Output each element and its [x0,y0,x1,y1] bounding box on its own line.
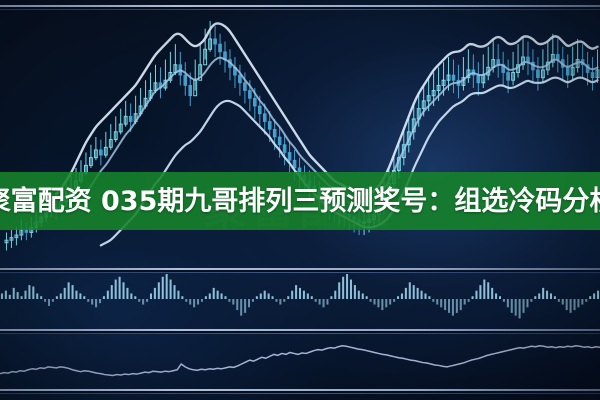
title-band: 聚富配资 035期九哥排列三预测奖号：组选冷码分析 [0,172,600,230]
banner-title: 聚富配资 035期九哥排列三预测奖号：组选冷码分析 [0,188,600,215]
stock-chart-banner: 聚富配资 聚富配资 035期九哥排列三预测奖号：组选冷码分析 [0,0,600,400]
